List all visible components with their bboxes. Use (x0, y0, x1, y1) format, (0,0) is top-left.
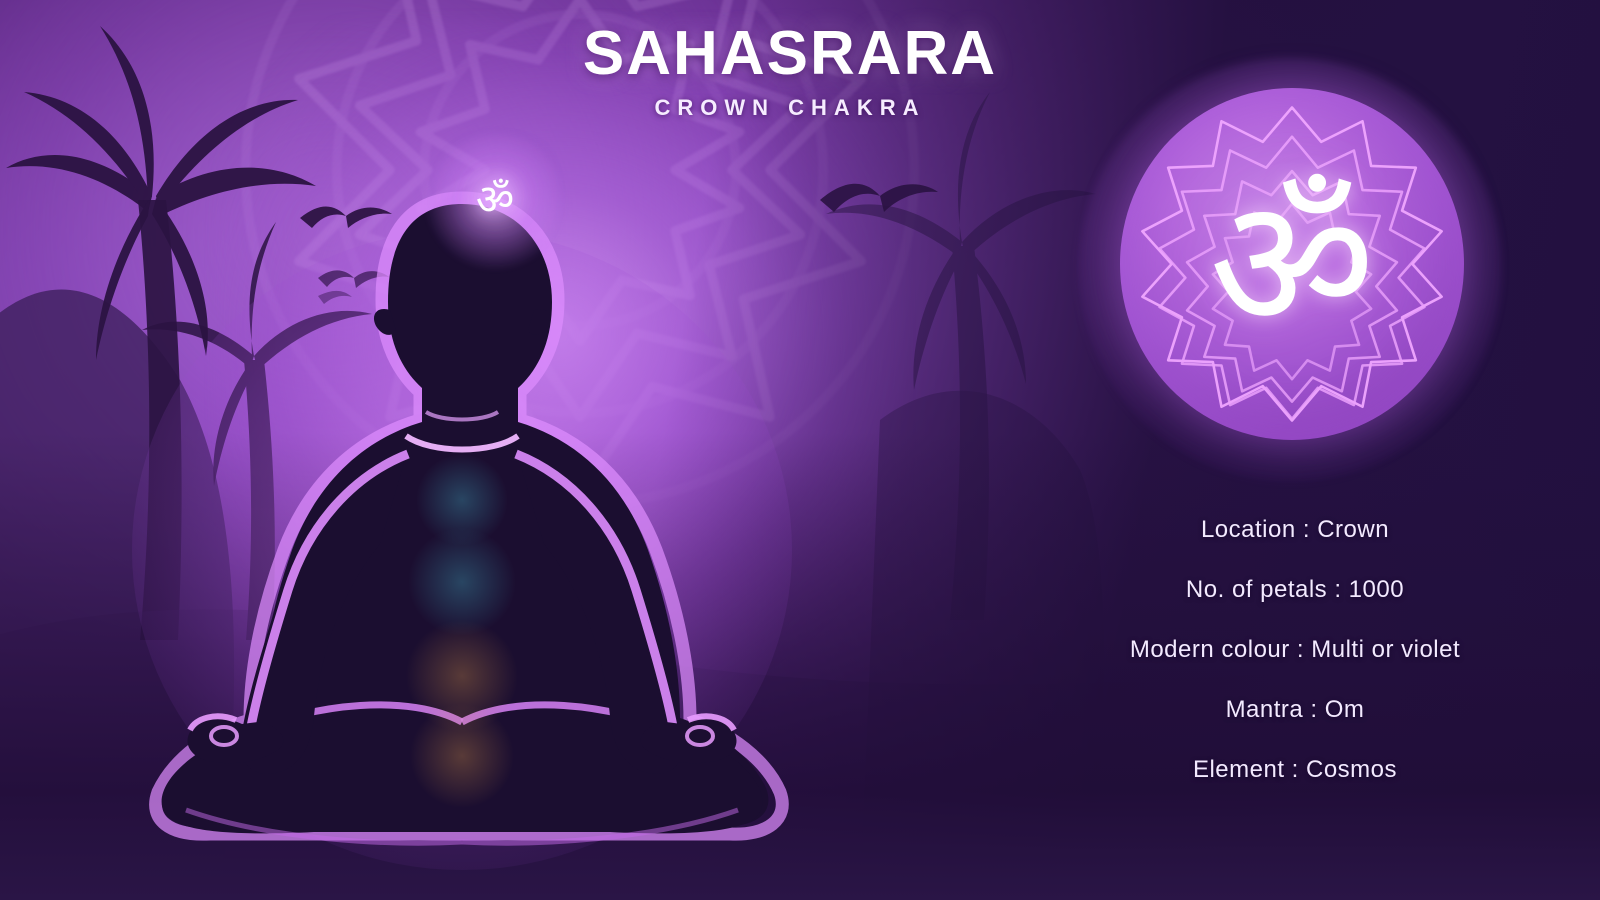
page-title: SAHASRARA (520, 22, 1060, 85)
chakra-attribute-list: Location : Crown No. of petals : 1000 Mo… (1060, 500, 1530, 800)
info-row-colour: Modern colour : Multi or violet (1060, 620, 1530, 680)
page-subtitle: CROWN CHAKRA (520, 95, 1060, 121)
chakra-emblem: ॐ (1078, 58, 1502, 482)
title-block: SAHASRARA CROWN CHAKRA (520, 22, 1060, 121)
info-row-element: Element : Cosmos (1060, 740, 1530, 800)
info-row-mantra: Mantra : Om (1060, 680, 1530, 740)
heart-chakra-glow (408, 528, 516, 636)
chakra-infographic-poster: ॐ SAHASRARA CROWN CHAKRA ॐ Location : Cr… (0, 0, 1600, 900)
crown-om-icon: ॐ (455, 160, 535, 240)
sacral-chakra-glow (410, 704, 514, 808)
om-symbol-icon: ॐ (1120, 88, 1464, 440)
info-row-petals: No. of petals : 1000 (1060, 560, 1530, 620)
info-row-location: Location : Crown (1060, 500, 1530, 560)
